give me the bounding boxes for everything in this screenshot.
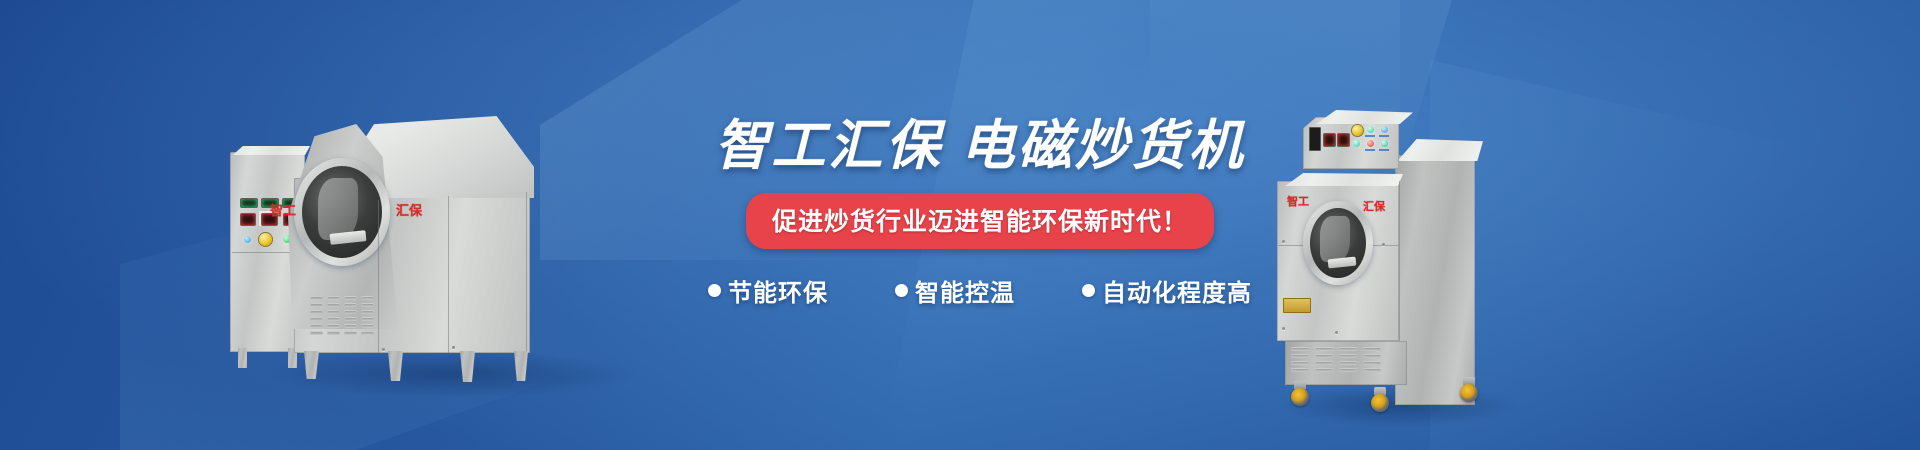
left-body-seam-2 <box>448 196 449 353</box>
right-name-plate <box>1283 298 1311 313</box>
right-panel-legend-4 <box>1379 149 1389 151</box>
left-drum-tray <box>330 230 367 245</box>
caster-wheel <box>1371 394 1389 412</box>
right-drum-opening <box>1310 208 1366 278</box>
right-panel-legend-3 <box>1365 149 1375 151</box>
right-body-screw-5 <box>1335 331 1338 334</box>
left-cabinet-leg-1 <box>238 348 247 368</box>
right-lamp-1[interactable] <box>1367 126 1374 133</box>
right-brand-logo-2: 汇保 <box>1363 198 1385 214</box>
caster-wheel <box>1460 384 1478 402</box>
right-panel-legend-1 <box>1365 135 1375 137</box>
right-caster-2 <box>1371 387 1389 413</box>
caster-wheel <box>1291 388 1309 406</box>
right-body-screw-1 <box>1282 240 1285 243</box>
feature-item-2: 智能控温 <box>895 273 1015 308</box>
feature-item-1: 节能环保 <box>708 273 828 308</box>
left-drum-opening <box>302 166 382 258</box>
bullet-dot-icon <box>708 284 721 297</box>
right-body-screw-4 <box>1282 327 1285 330</box>
feature-label-1: 节能环保 <box>728 273 828 308</box>
left-display-top-1 <box>240 198 258 208</box>
right-rear-column <box>1395 155 1475 405</box>
feature-item-3: 自动化程度高 <box>1082 273 1252 308</box>
right-lamp-5[interactable] <box>1381 140 1388 147</box>
right-lamp-3[interactable] <box>1353 140 1360 147</box>
banner-badge-wrap: 促进炒货行业迈进智能环保新时代！ <box>700 193 1260 249</box>
left-body-screw-2 <box>452 346 455 349</box>
machine-right: 智工 汇保 <box>1275 95 1535 415</box>
right-lamp-2[interactable] <box>1381 126 1388 133</box>
left-body-seam-1 <box>378 200 379 353</box>
left-display-bottom-1 <box>240 213 256 226</box>
left-brand-logo-2: 汇保 <box>396 200 422 219</box>
right-caster-1 <box>1291 381 1309 407</box>
right-brand-logo-1: 智工 <box>1287 193 1309 209</box>
right-main-body-top <box>1275 173 1403 186</box>
left-brand-logo-1: 智工 <box>270 200 296 219</box>
feature-label-2: 智能控温 <box>915 273 1015 308</box>
right-emergency-knob[interactable] <box>1352 125 1363 136</box>
promo-banner: 许昌智工 智工 汇保 <box>0 0 1920 450</box>
right-body-seam-2 <box>1399 181 1400 341</box>
right-main-display <box>1309 127 1321 151</box>
banner-headline: 智工汇保 电磁炒货机 <box>700 118 1260 175</box>
left-power-lamp[interactable] <box>244 236 251 243</box>
right-display-1 <box>1323 133 1336 147</box>
bullet-dot-icon <box>895 284 908 297</box>
bullet-dot-icon <box>1082 284 1095 297</box>
banner-copy: 智工汇保 电磁炒货机 促进炒货行业迈进智能环保新时代！ 节能环保 智能控温 自动… <box>700 118 1260 308</box>
left-cabinet-top <box>228 146 310 155</box>
right-display-2 <box>1337 133 1350 147</box>
left-body-seam-3 <box>526 192 527 353</box>
banner-feature-list: 节能环保 智能控温 自动化程度高 <box>700 273 1260 308</box>
machine-left: 许昌智工 智工 汇保 <box>230 100 650 390</box>
right-drum-tray <box>1328 257 1357 269</box>
right-caster-3 <box>1460 377 1478 403</box>
right-rear-column-top <box>1388 139 1483 161</box>
banner-slogan-badge: 促进炒货行业迈进智能环保新时代！ <box>746 193 1214 249</box>
feature-label-3: 自动化程度高 <box>1102 273 1252 308</box>
right-lamp-4[interactable] <box>1367 140 1374 147</box>
right-panel-legend-2 <box>1379 135 1389 137</box>
left-body-screw-1 <box>382 348 385 351</box>
left-temperature-knob[interactable] <box>259 233 272 246</box>
left-body-vent <box>310 296 376 352</box>
right-body-screw-3 <box>1382 243 1385 246</box>
right-skirt-vent <box>1291 347 1395 381</box>
right-drum-blade <box>1320 216 1350 262</box>
